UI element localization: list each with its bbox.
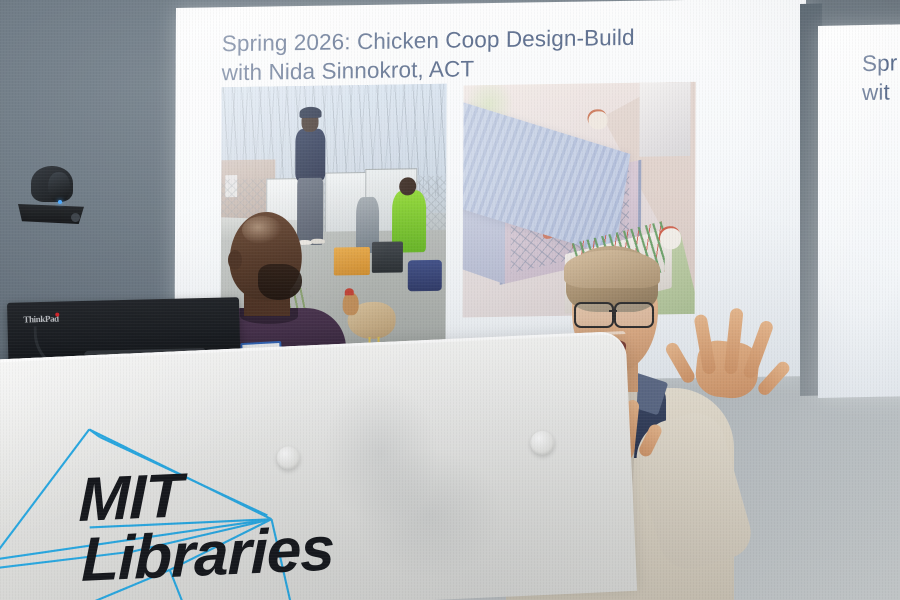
wall-camera-icon [18, 162, 84, 224]
photo-chicken [342, 292, 401, 346]
man-beard [258, 264, 302, 300]
hand-right-thumb [664, 341, 697, 386]
glasses-lens-right [614, 302, 654, 328]
woman-hand-right [679, 293, 786, 412]
presentation-scene: Spring 2026: Chicken Coop Design-Build w… [0, 0, 900, 600]
camera-lens [48, 172, 70, 202]
photo-person-cap [300, 107, 321, 119]
photo-person-torso [295, 128, 326, 181]
mit-libraries-logo: MIT Libraries [49, 450, 475, 600]
projection-screen-secondary: Spr wit [818, 24, 900, 398]
glasses-icon [574, 302, 666, 324]
slide-title-secondary: Spr wit [862, 45, 900, 108]
glasses-bridge [609, 310, 617, 312]
slide-title: Spring 2026: Chicken Coop Design-Build w… [222, 21, 742, 88]
camera-adjust-knob [71, 213, 80, 222]
man-head-highlight [242, 216, 282, 244]
photo-black-case [372, 241, 404, 272]
woman-hair-front [564, 250, 660, 288]
photo-blue-bag [407, 260, 441, 291]
slide-content-secondary: Spr wit [818, 24, 900, 398]
logo-text-libraries: Libraries [81, 518, 334, 592]
thinkpad-logo-dot [55, 313, 59, 317]
podium-panel: MIT Libraries [0, 331, 637, 600]
camera-status-led [58, 200, 62, 204]
man-ear [228, 250, 242, 270]
glasses-lens-left [574, 302, 614, 328]
